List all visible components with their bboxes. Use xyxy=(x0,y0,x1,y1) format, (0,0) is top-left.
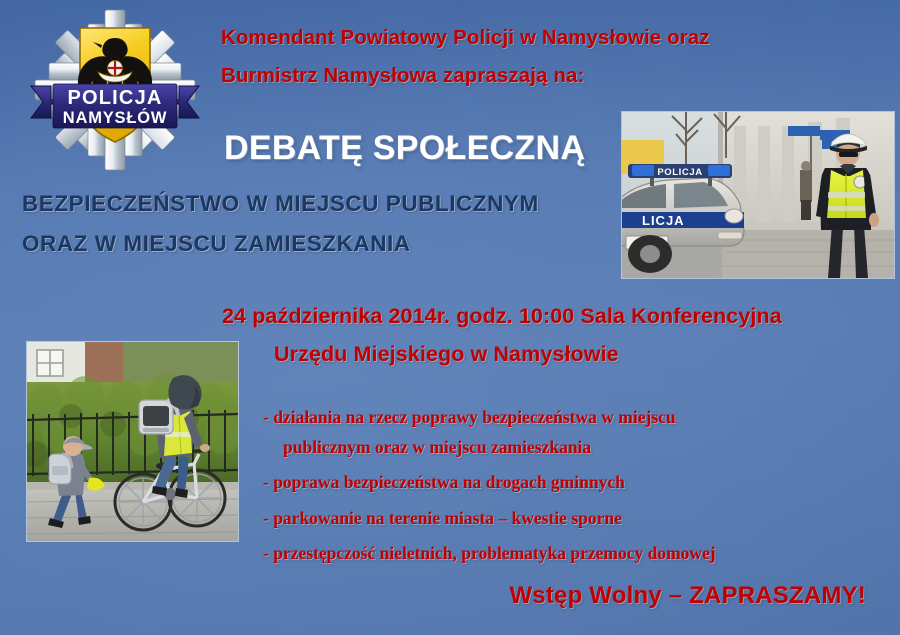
cyclist-safety-photo xyxy=(27,342,238,541)
invitation-line-1: Komendant Powiatowy Policji w Namysłowie… xyxy=(221,28,781,49)
debate-title: DEBATĘ SPOŁECZNĄ xyxy=(224,131,585,165)
topic-item-text: - działania na rzecz poprawy bezpieczeńs… xyxy=(263,407,676,427)
logo-policja-text: POLICJA xyxy=(67,87,162,109)
topic-item: - poprawa bezpieczeństwa na drogach gmin… xyxy=(263,474,883,492)
topic-item-text: - parkowanie na terenie miasta – kwestie… xyxy=(263,508,622,528)
topic-item: - przestępczość nieletnich, problematyka… xyxy=(263,545,883,563)
subject-block: BEZPIECZEŃSTWO W MIEJSCU PUBLICZNYM ORAZ… xyxy=(22,193,672,255)
event-details-block: 24 października 2014r. godz. 10:00 Sala … xyxy=(222,306,894,365)
police-car-lightbar-label: POLICJA xyxy=(657,167,702,178)
cyclist-safety-photo-image xyxy=(27,342,238,541)
topic-item: - działania na rzecz poprawy bezpieczeńs… xyxy=(263,409,883,456)
police-car-side-label: LICJA xyxy=(642,213,685,228)
topic-item-text: - przestępczość nieletnich, problematyka… xyxy=(263,543,716,563)
topic-item-text: - poprawa bezpieczeństwa na drogach gmin… xyxy=(263,472,625,492)
footer-note: Wstęp Wolny – ZAPRASZAMY! xyxy=(0,584,866,608)
event-datetime-line: 24 października 2014r. godz. 10:00 Sala … xyxy=(222,306,894,328)
topic-item: - parkowanie na terenie miasta – kwestie… xyxy=(263,510,883,528)
subject-line-1: BEZPIECZEŃSTWO W MIEJSCU PUBLICZNYM xyxy=(22,193,672,216)
event-venue-line: Urzędu Miejskiego w Namysłowie xyxy=(222,344,894,366)
police-patrol-photo: LICJA POLICJA xyxy=(622,112,894,278)
invitation-line-2: Burmistrz Namysłowa zapraszają na: xyxy=(221,66,781,87)
logo-ribbon: POLICJA NAMYSŁÓW xyxy=(31,84,199,128)
topics-list: - działania na rzecz poprawy bezpieczeńs… xyxy=(263,409,883,563)
poster-canvas: POLICJA NAMYSŁÓW Komendant Powiatowy Pol… xyxy=(0,0,900,635)
invitation-block: Komendant Powiatowy Policji w Namysłowie… xyxy=(221,28,781,86)
logo-namyslow-text: NAMYSŁÓW xyxy=(63,108,167,127)
police-patrol-photo-image: LICJA POLICJA xyxy=(622,112,894,278)
topic-item-continuation: publicznym oraz w miejscu zamieszkania xyxy=(263,439,883,457)
police-star-badge-icon: POLICJA NAMYSŁÓW xyxy=(26,8,204,176)
police-logo: POLICJA NAMYSŁÓW xyxy=(26,8,204,176)
subject-line-2: ORAZ W MIEJSCU ZAMIESZKANIA xyxy=(22,233,672,256)
